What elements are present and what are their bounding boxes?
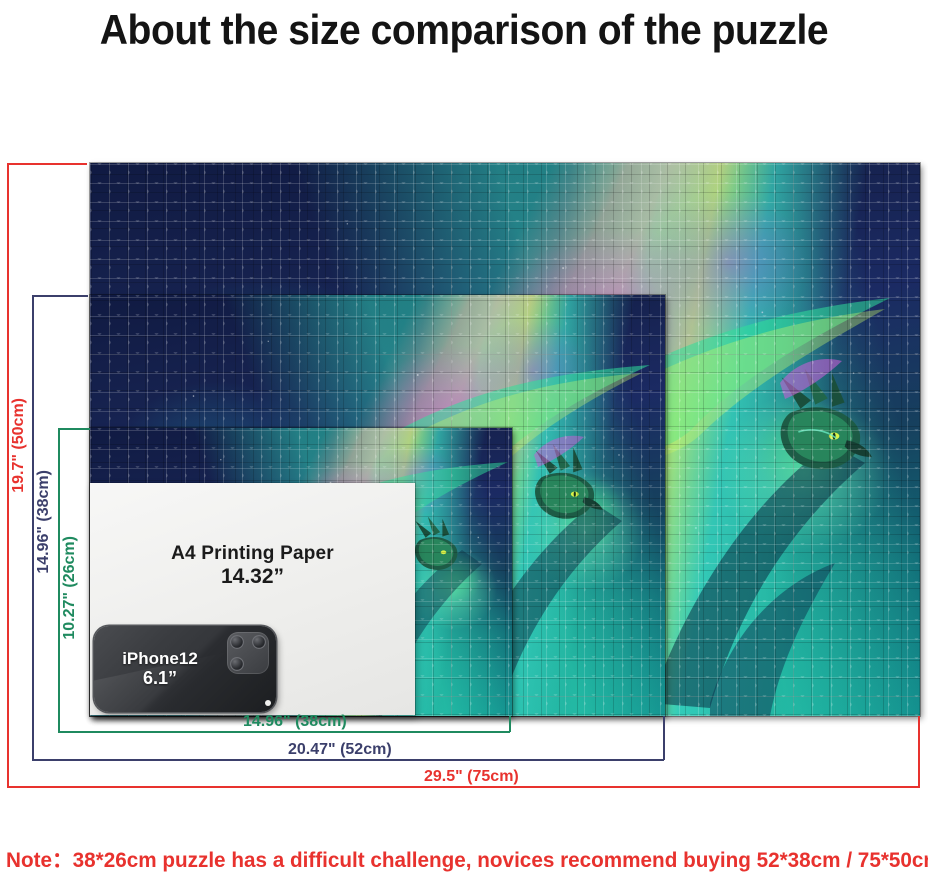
iphone-screen-size: 6.1” [100,669,220,689]
bracket-tick-right [663,716,665,760]
large-height-label: 19.7" (50cm) [10,398,28,493]
medium-width-label: 20.47" (52cm) [288,741,392,759]
bracket-tick-right [918,716,920,787]
small-height-label: 10.27" (26cm) [61,536,79,640]
iphone-label: iPhone12 6.1” [100,650,220,688]
bracket-line [7,163,9,788]
camera-module-icon [227,632,269,674]
bracket-line [58,731,510,733]
camera-lens-icon [230,657,244,671]
bracket-line [58,428,60,733]
camera-lens-icon [230,635,244,649]
bracket-tick-top [32,295,88,297]
bracket-tick-right [509,716,511,732]
size-comparison-stage: A4 Printing Paper 14.32” iPhone12 6.1” 1… [0,0,928,882]
bracket-line [32,295,34,761]
bracket-line [32,759,664,761]
iphone-reference: iPhone12 6.1” [94,626,276,712]
camera-flash-icon [265,700,271,706]
large-width-label: 29.5" (75cm) [424,768,519,786]
iphone-model: iPhone12 [100,650,220,669]
small-width-label: 14.96" (38cm) [243,713,347,731]
a4-paper-label: A4 Printing Paper 14.32” [90,543,415,590]
bracket-tick-top [7,163,87,165]
medium-height-label: 14.96" (38cm) [35,470,53,574]
bracket-line [7,786,920,788]
bracket-tick-top [58,428,90,430]
note-text: Note：38*26cm puzzle has a difficult chal… [6,844,912,874]
a4-paper-title: A4 Printing Paper [90,543,415,565]
camera-lens-icon [252,635,266,649]
a4-paper-size: 14.32” [90,565,415,590]
